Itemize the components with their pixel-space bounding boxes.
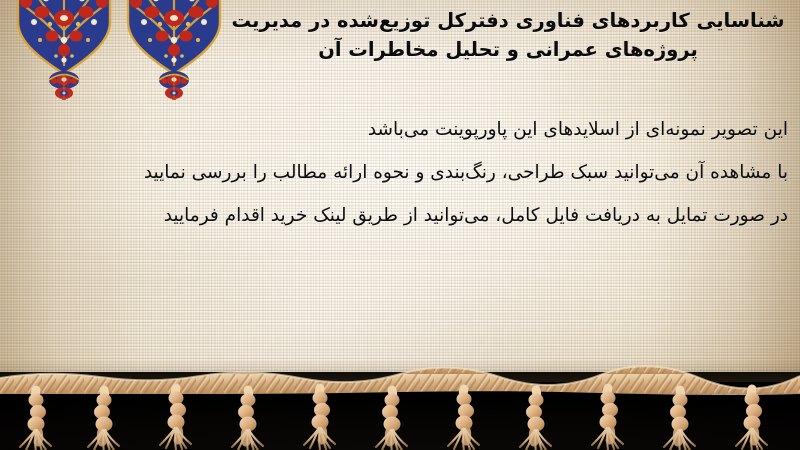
slide-canvas: شناسایی کاربردهای فناوری دفترکل توزیع‌شد… <box>0 0 800 450</box>
fringe-rope-graphic <box>0 354 800 450</box>
slide-title-line-1: شناسایی کاربردهای فناوری دفترکل توزیع‌شد… <box>230 6 786 35</box>
slide-title-line-2: پروژه‌های عمرانی و تحلیل مخاطرات آن <box>230 35 786 64</box>
slide-body: این تصویر نمونه‌ای از اسلایدهای این پاور… <box>10 108 788 237</box>
knotted-rope-tassel-fringe <box>0 354 800 450</box>
slide-body-line-2: با مشاهده آن می‌توانید سبک طراحی، رنگ‌بن… <box>10 151 788 194</box>
slide-body-line-3: در صورت تمایل به دریافت فایل کامل، می‌تو… <box>10 194 788 237</box>
slide-body-line-1: این تصویر نمونه‌ای از اسلایدهای این پاور… <box>10 108 788 151</box>
slide-title: شناسایی کاربردهای فناوری دفترکل توزیع‌شد… <box>230 6 786 65</box>
